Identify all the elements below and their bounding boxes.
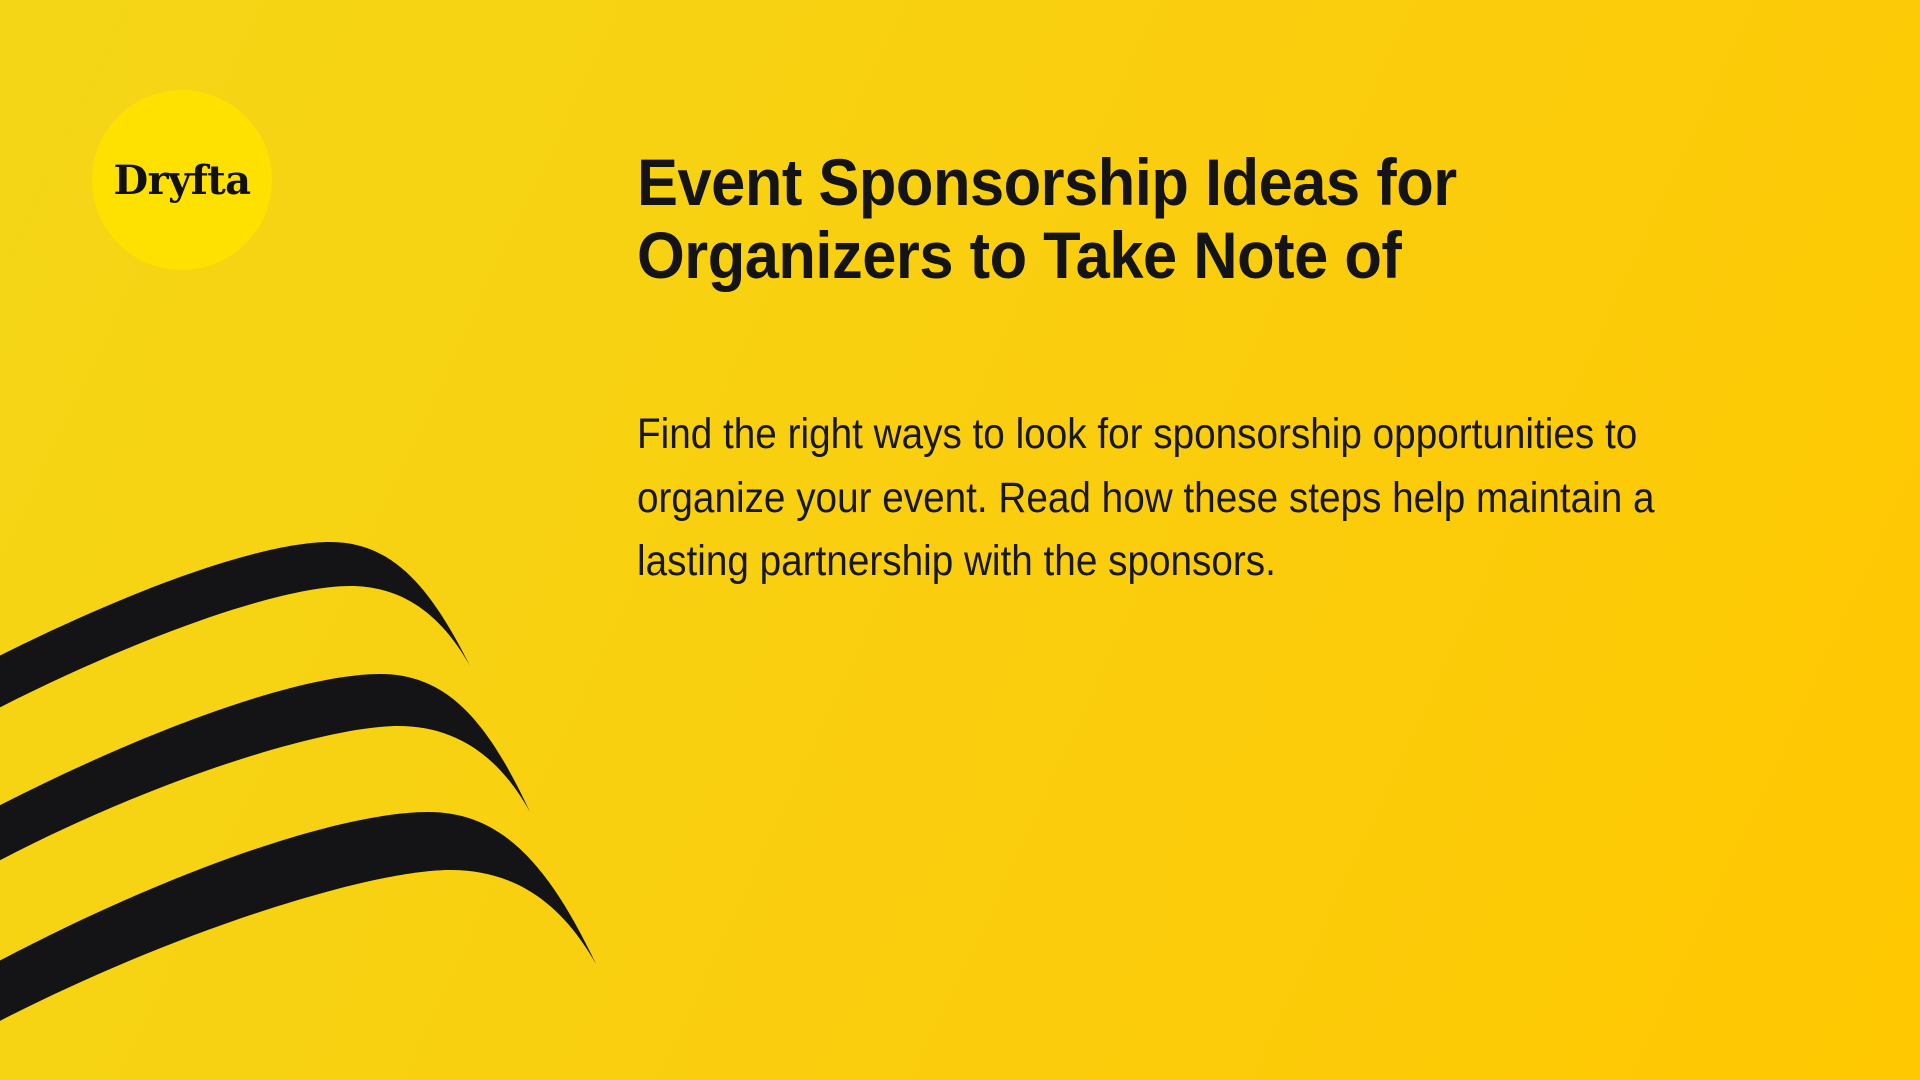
logo-badge[interactable]: Dryfta: [92, 90, 272, 270]
copy-block: Event Sponsorship Ideas for Organizers t…: [637, 146, 1817, 594]
stripe-2: [0, 674, 530, 882]
stripe-3: [0, 812, 596, 1042]
promo-banner: Dryfta Event Sponsorship Ideas for Organ…: [0, 0, 1920, 1080]
page-subtitle: Find the right ways to look for sponsors…: [637, 291, 1699, 594]
stripe-1: [0, 542, 470, 728]
page-title: Event Sponsorship Ideas for Organizers t…: [637, 146, 1697, 291]
logo-wordmark: Dryfta: [113, 161, 250, 201]
curved-stripes-graphic: [0, 520, 620, 1080]
